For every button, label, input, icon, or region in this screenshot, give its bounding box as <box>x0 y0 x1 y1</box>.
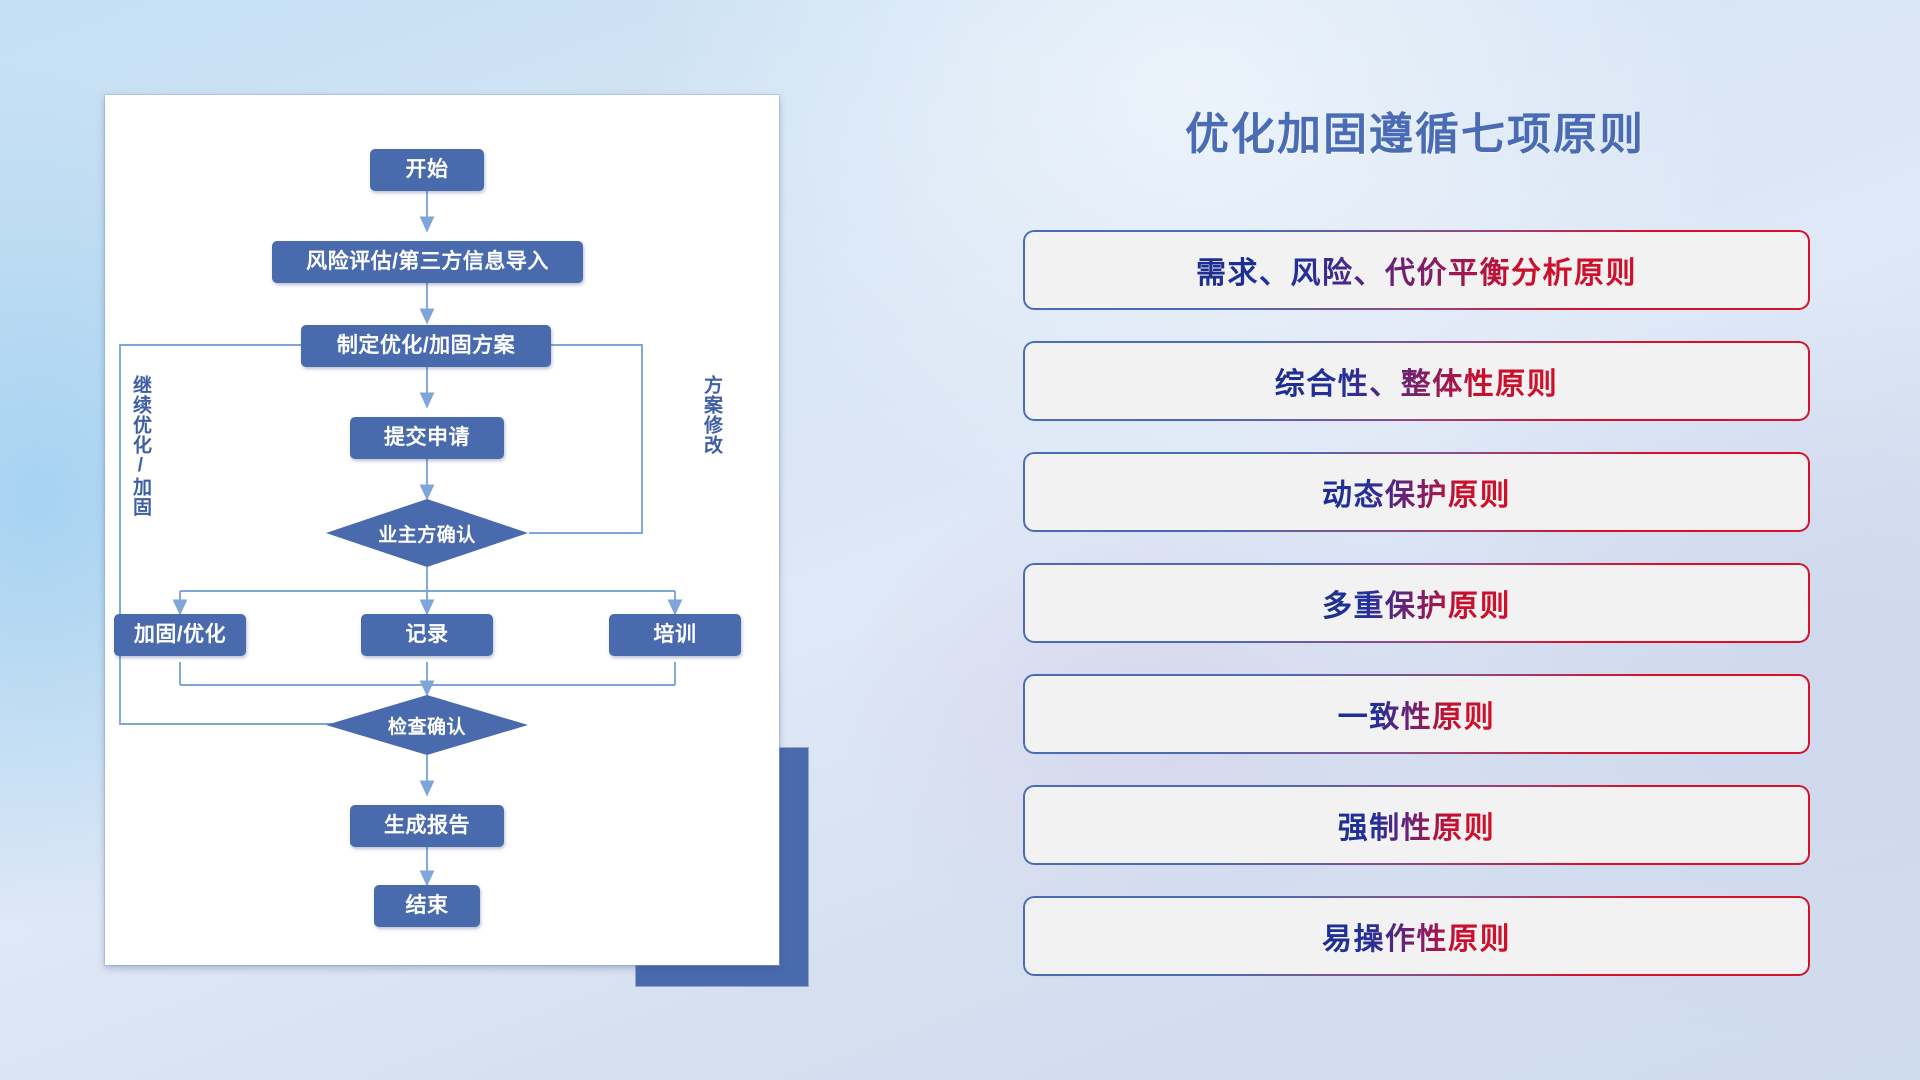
flow-node-label: 加固/优化 <box>134 623 226 646</box>
flow-node-plan[interactable]: 制定优化/加固方案 <box>301 325 551 367</box>
flow-node-risk-assessment[interactable]: 风险评估/第三方信息导入 <box>272 241 583 283</box>
diamond-shape <box>326 499 528 567</box>
principle-card-3[interactable]: 动态保护原则 <box>1025 454 1808 530</box>
diamond-shape <box>326 695 528 755</box>
flow-node-generate-report[interactable]: 生成报告 <box>350 805 504 847</box>
page-title: 优化加固遵循七项原则 <box>1025 98 1805 162</box>
principle-card-7[interactable]: 易操作性原则 <box>1025 898 1808 974</box>
flow-node-label: 记录 <box>406 623 449 646</box>
flow-node-label: 结束 <box>406 894 449 917</box>
principles-list: 需求、风险、代价平衡分析原则 综合性、整体性原则 动态保护原则 多重保护原则 一… <box>1025 232 1808 1009</box>
flow-node-end[interactable]: 结束 <box>374 885 480 927</box>
slide-root: 开始 风险评估/第三方信息导入 制定优化/加固方案 提交申请 业主方确认 加固/… <box>0 0 1920 1080</box>
flow-node-record[interactable]: 记录 <box>361 614 493 656</box>
flow-node-training[interactable]: 培训 <box>609 614 741 656</box>
principle-label: 一致性原则 <box>1338 692 1496 736</box>
principle-card-5[interactable]: 一致性原则 <box>1025 676 1808 752</box>
flow-node-label: 制定优化/加固方案 <box>337 334 515 357</box>
flow-node-submit-application[interactable]: 提交申请 <box>350 417 504 459</box>
principle-card-4[interactable]: 多重保护原则 <box>1025 565 1808 641</box>
flow-node-reinforce-optimize[interactable]: 加固/优化 <box>114 614 246 656</box>
flow-node-start[interactable]: 开始 <box>370 149 484 191</box>
principle-label: 易操作性原则 <box>1322 914 1511 958</box>
principle-card-1[interactable]: 需求、风险、代价平衡分析原则 <box>1025 232 1808 308</box>
principle-label: 多重保护原则 <box>1322 581 1511 625</box>
principle-card-2[interactable]: 综合性、整体性原则 <box>1025 343 1808 419</box>
flow-node-label: 提交申请 <box>384 426 470 449</box>
flow-edge-label-plan-revision: 方案修改 <box>701 375 721 455</box>
flowchart-panel: 开始 风险评估/第三方信息导入 制定优化/加固方案 提交申请 业主方确认 加固/… <box>105 95 779 965</box>
principle-card-6[interactable]: 强制性原则 <box>1025 787 1808 863</box>
principle-label: 需求、风险、代价平衡分析原则 <box>1196 248 1637 292</box>
flow-node-label: 培训 <box>654 623 697 646</box>
principle-label: 强制性原则 <box>1338 803 1496 847</box>
flow-node-owner-confirm[interactable]: 业主方确认 <box>326 499 528 567</box>
flow-node-label: 生成报告 <box>384 814 470 837</box>
flow-node-check-confirm[interactable]: 检查确认 <box>326 695 528 755</box>
flow-node-label: 风险评估/第三方信息导入 <box>306 250 549 273</box>
flow-node-label: 开始 <box>406 158 449 181</box>
principle-label: 综合性、整体性原则 <box>1275 359 1559 403</box>
flow-edge-label-continue-optimize: 继续优化/加固 <box>130 375 150 517</box>
principle-label: 动态保护原则 <box>1322 470 1511 514</box>
